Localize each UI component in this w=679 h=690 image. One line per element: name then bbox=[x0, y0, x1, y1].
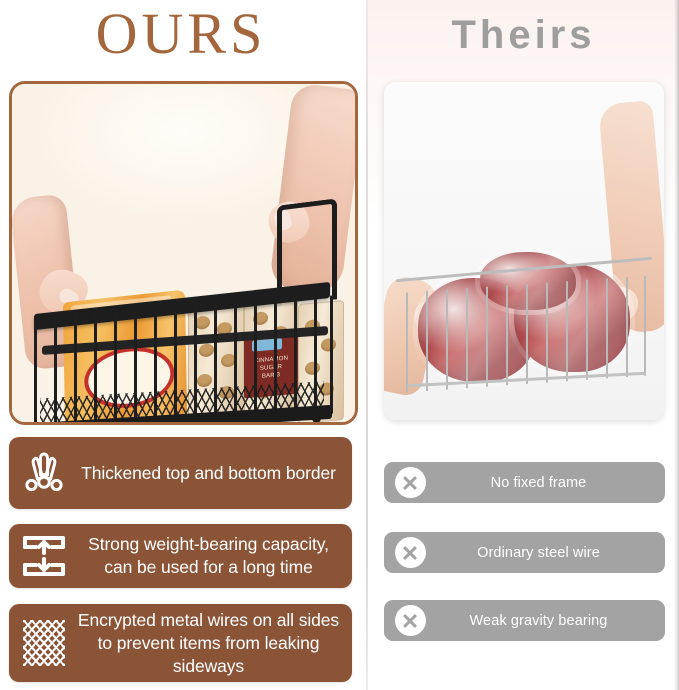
weight-bearing-icon bbox=[15, 533, 73, 579]
ours-heading: OURS bbox=[0, 2, 362, 66]
comparison-infographic: OURS bbox=[0, 0, 679, 690]
x-mark-icon bbox=[390, 605, 430, 636]
theirs-heading: Theirs bbox=[368, 10, 679, 60]
ours-feature-2: Strong weight-bearing capacity, can be u… bbox=[9, 524, 352, 588]
x-mark-icon bbox=[390, 537, 430, 568]
theirs-feature-3-text: Weak gravity bearing bbox=[430, 612, 665, 630]
basket-foot-right bbox=[312, 414, 321, 423]
ours-feature-1: Thickened top and bottom border bbox=[9, 437, 352, 509]
ours-feature-3: Encrypted metal wires on all sides to pr… bbox=[9, 604, 352, 682]
theirs-product-photo bbox=[384, 82, 664, 420]
ours-feature-2-text: Strong weight-bearing capacity, can be u… bbox=[73, 533, 344, 579]
ours-feature-3-text: Encrypted metal wires on all sides to pr… bbox=[73, 609, 344, 678]
theirs-feature-2: Ordinary steel wire bbox=[384, 532, 665, 573]
right-edge-shadow bbox=[674, 0, 679, 690]
metal-mesh-icon bbox=[15, 620, 73, 666]
ours-panel: OURS bbox=[0, 0, 362, 690]
ours-feature-1-text: Thickened top and bottom border bbox=[73, 462, 344, 485]
x-mark-icon bbox=[390, 467, 430, 498]
theirs-feature-3: Weak gravity bearing bbox=[384, 600, 665, 641]
theirs-feature-1-text: No fixed frame bbox=[430, 474, 665, 492]
thickened-border-icon bbox=[15, 449, 73, 497]
theirs-feature-1: No fixed frame bbox=[384, 462, 665, 503]
ours-product-photo: CINNAMON SUGAR BAR 3 bbox=[9, 81, 358, 425]
theirs-feature-2-text: Ordinary steel wire bbox=[430, 544, 665, 562]
